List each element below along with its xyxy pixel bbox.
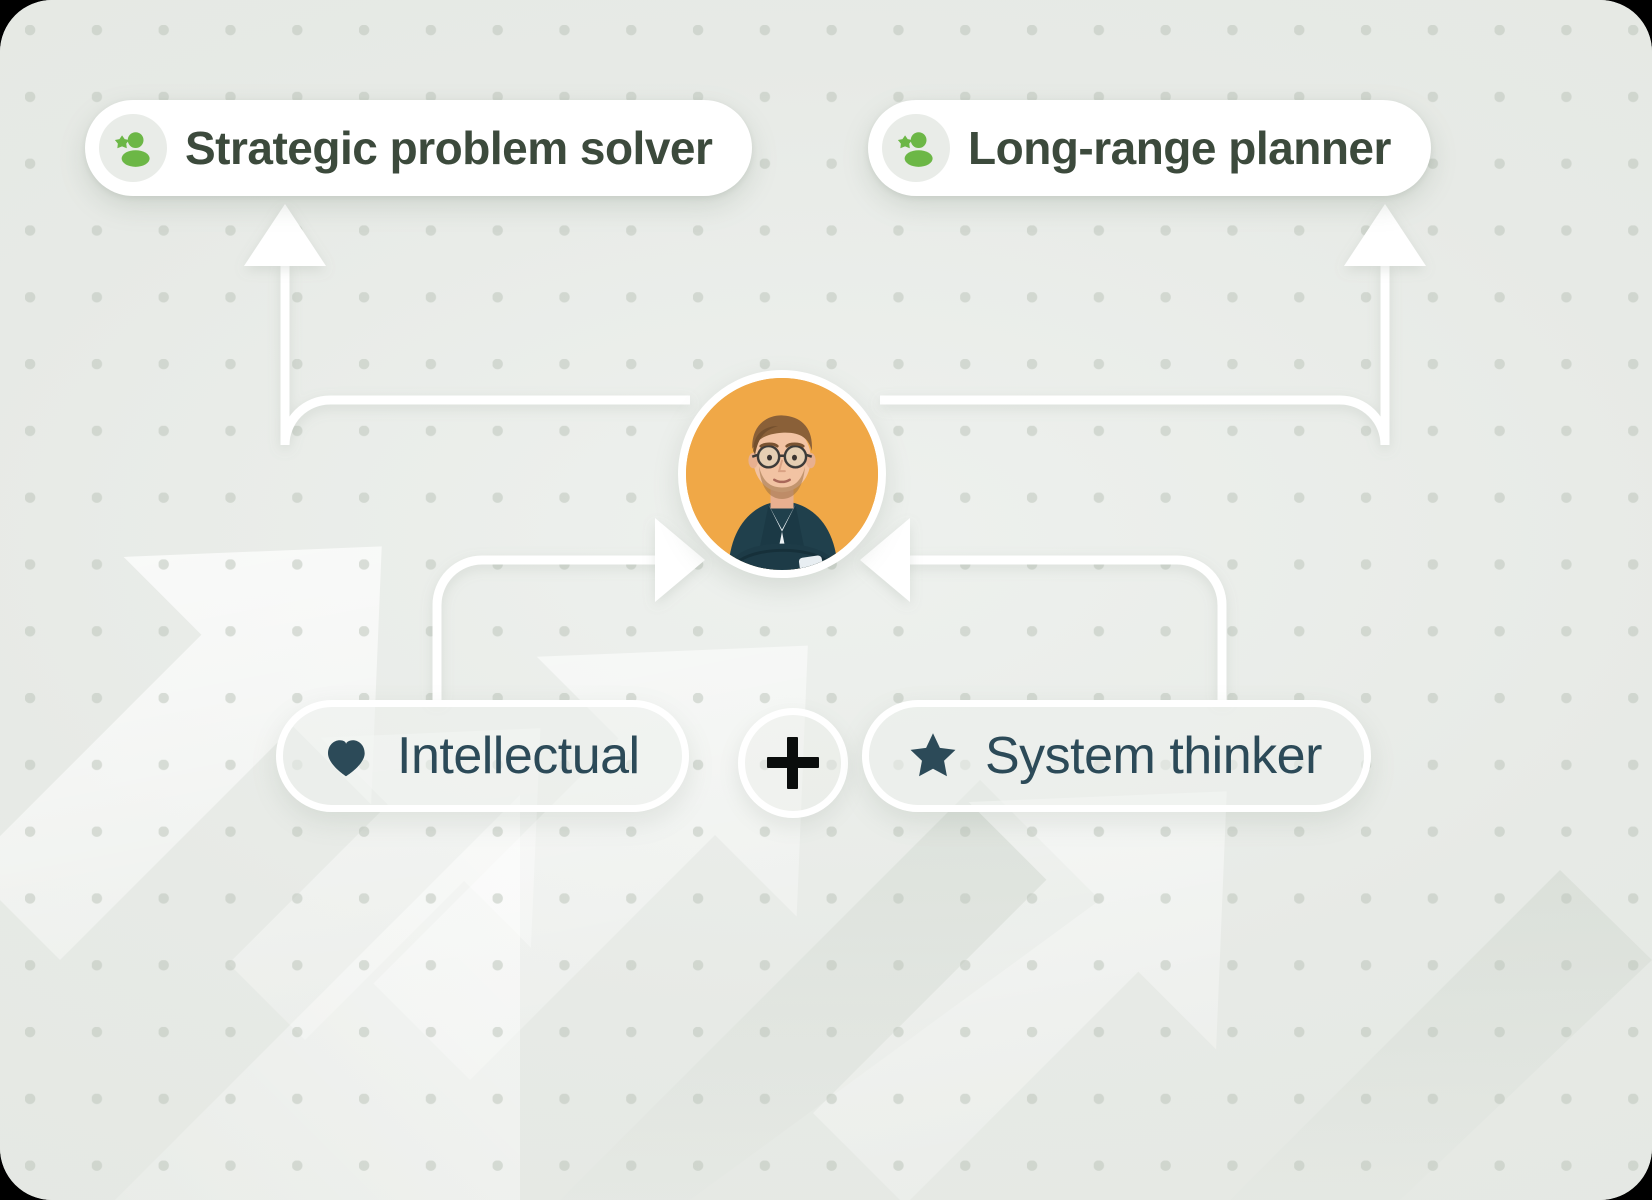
- node-label: Intellectual: [397, 730, 640, 782]
- node-system-thinker[interactable]: System thinker: [862, 700, 1371, 812]
- plus-icon: [767, 737, 819, 789]
- avatar: [678, 370, 886, 578]
- node-long-range-planner[interactable]: Long-range planner: [868, 100, 1431, 196]
- node-label: Strategic problem solver: [185, 125, 712, 171]
- arrowhead-up-right: [1344, 204, 1426, 266]
- person-star-icon: [99, 114, 167, 182]
- node-label: System thinker: [985, 730, 1322, 782]
- diagram-canvas: Strategic problem solver Long-range plan…: [0, 0, 1652, 1200]
- arrowhead-up-left: [244, 204, 326, 266]
- plus-operator: [738, 708, 848, 818]
- node-intellectual[interactable]: Intellectual: [276, 700, 689, 812]
- heart-icon: [317, 729, 375, 783]
- person-star-icon: [882, 114, 950, 182]
- node-label: Long-range planner: [968, 125, 1391, 171]
- node-strategic-problem-solver[interactable]: Strategic problem solver: [85, 100, 752, 196]
- star-icon: [903, 727, 963, 785]
